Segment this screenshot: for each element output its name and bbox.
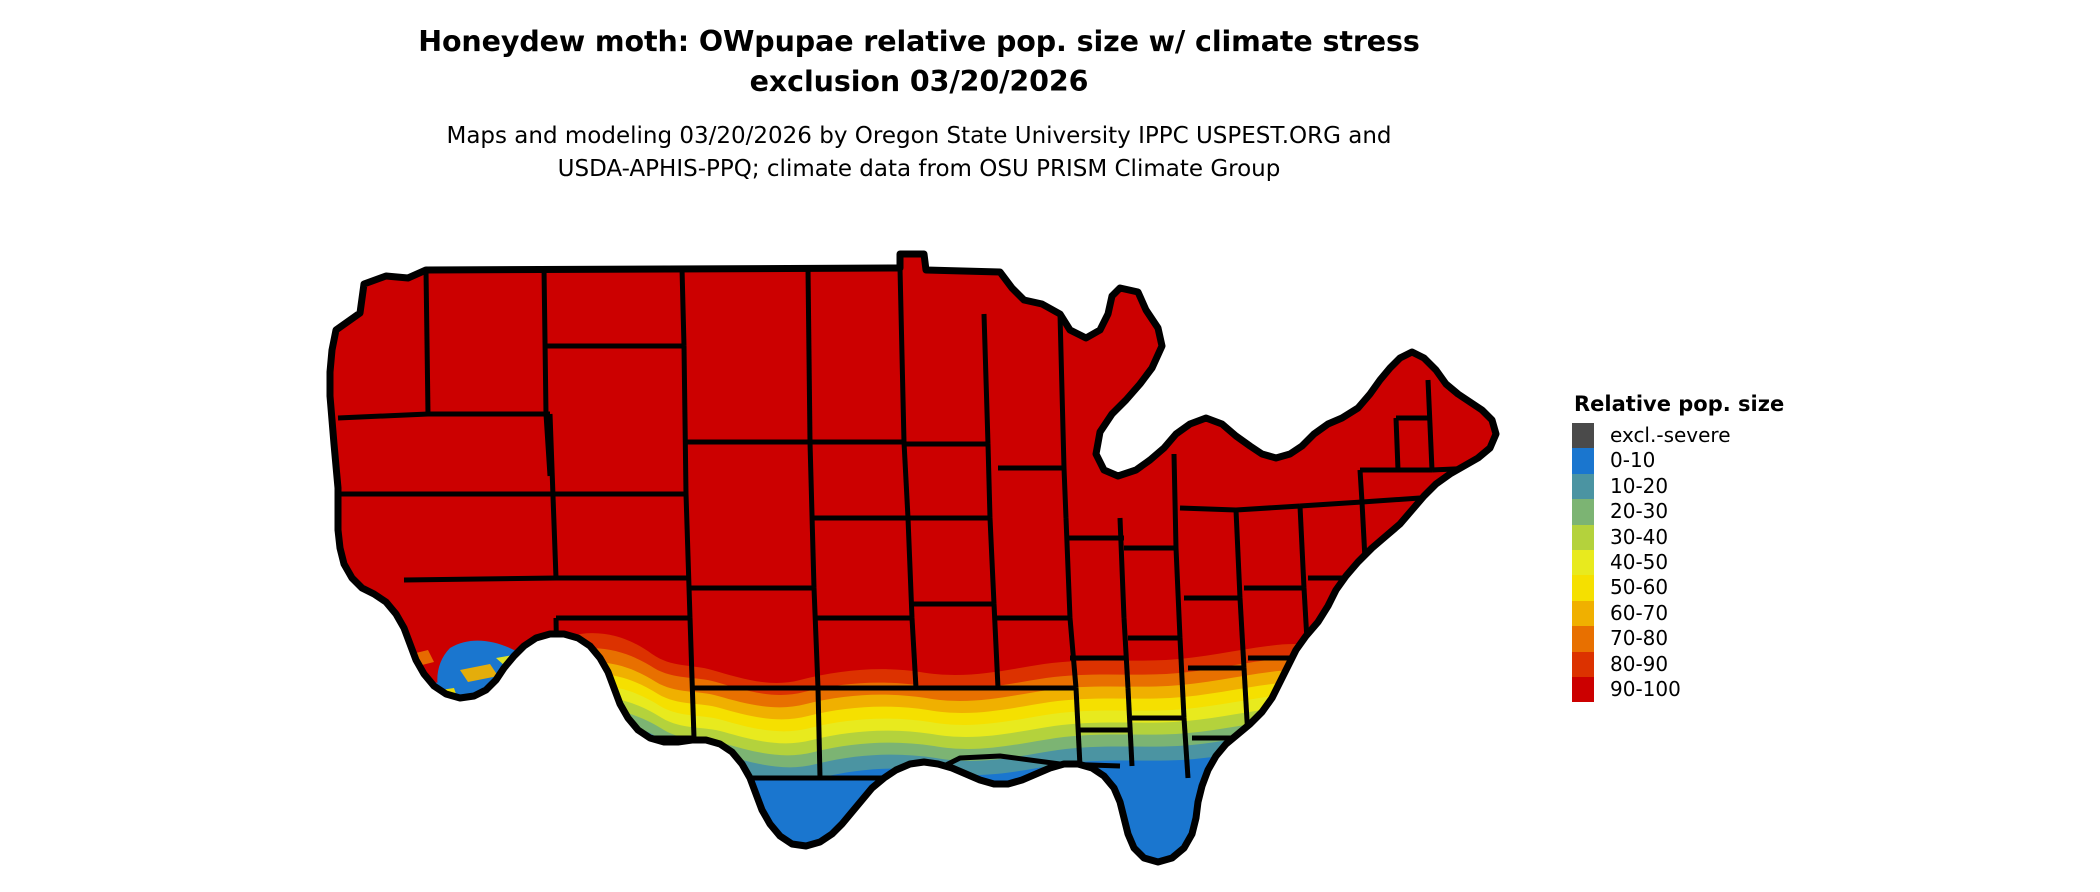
legend-label: 50-60 xyxy=(1610,575,1668,600)
interior-high-population-mask xyxy=(300,218,1550,656)
legend-label: 70-80 xyxy=(1610,626,1668,651)
legend-swatch xyxy=(1572,423,1594,448)
legend-item[interactable]: 50-60 xyxy=(1572,575,1784,600)
legend-title: Relative pop. size xyxy=(1574,392,1784,416)
legend-swatch xyxy=(1572,575,1594,600)
legend-item[interactable]: 20-30 xyxy=(1572,499,1784,524)
page-subtitle: Maps and modeling 03/20/2026 by Oregon S… xyxy=(0,120,1838,186)
legend-swatch xyxy=(1572,626,1594,651)
legend-label: 20-30 xyxy=(1610,499,1668,524)
legend-swatch xyxy=(1572,677,1594,702)
legend-item[interactable]: 80-90 xyxy=(1572,652,1784,677)
legend-label: 40-50 xyxy=(1610,550,1668,575)
title-line-1: Honeydew moth: OWpupae relative pop. siz… xyxy=(0,22,1838,62)
legend-item[interactable]: excl.-severe xyxy=(1572,423,1784,448)
subtitle-line-2: USDA-APHIS-PPQ; climate data from OSU PR… xyxy=(0,153,1838,186)
legend-label: 0-10 xyxy=(1610,448,1655,473)
legend-items: excl.-severe0-1010-2020-3030-4040-5050-6… xyxy=(1572,423,1784,702)
legend-swatch xyxy=(1572,525,1594,550)
map-page: Honeydew moth: OWpupae relative pop. siz… xyxy=(0,0,2100,892)
legend-item[interactable]: 70-80 xyxy=(1572,626,1784,651)
legend-swatch xyxy=(1572,652,1594,677)
legend-item[interactable]: 0-10 xyxy=(1572,448,1784,473)
legend-swatch xyxy=(1572,601,1594,626)
map-legend: Relative pop. size excl.-severe0-1010-20… xyxy=(1572,392,1784,702)
legend-item[interactable]: 90-100 xyxy=(1572,677,1784,702)
legend-item[interactable]: 30-40 xyxy=(1572,525,1784,550)
legend-label: 80-90 xyxy=(1610,652,1668,677)
title-line-2: exclusion 03/20/2026 xyxy=(0,62,1838,102)
legend-swatch xyxy=(1572,448,1594,473)
west-texas-high-intrusion xyxy=(609,777,694,872)
legend-label: 10-20 xyxy=(1610,474,1668,499)
subtitle-line-1: Maps and modeling 03/20/2026 by Oregon S… xyxy=(0,120,1838,153)
legend-swatch xyxy=(1572,474,1594,499)
choropleth-map xyxy=(300,218,1550,878)
west-texas-intrusion-halo xyxy=(609,777,694,872)
legend-label: excl.-severe xyxy=(1610,423,1731,448)
us-map-svg xyxy=(300,218,1550,878)
legend-item[interactable]: 10-20 xyxy=(1572,474,1784,499)
legend-swatch xyxy=(1572,499,1594,524)
gulf-and-florida-low-zone xyxy=(600,778,1370,878)
legend-label: 90-100 xyxy=(1610,677,1681,702)
legend-label: 30-40 xyxy=(1610,525,1668,550)
legend-swatch xyxy=(1572,550,1594,575)
legend-item[interactable]: 40-50 xyxy=(1572,550,1784,575)
page-title: Honeydew moth: OWpupae relative pop. siz… xyxy=(0,22,1838,102)
legend-item[interactable]: 60-70 xyxy=(1572,601,1784,626)
legend-label: 60-70 xyxy=(1610,601,1668,626)
